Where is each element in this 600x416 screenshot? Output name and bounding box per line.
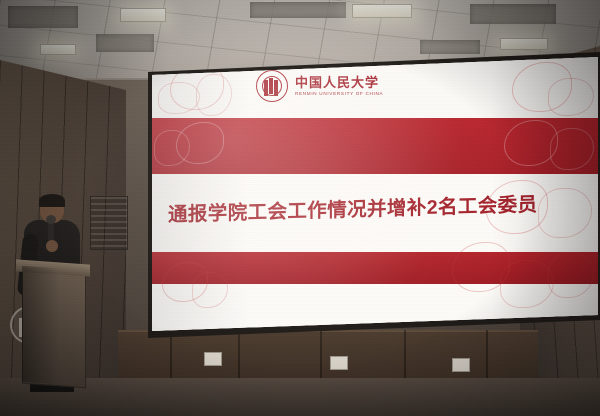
university-logo-text: 中国人民大学 RENMIN UNIVERSITY OF CHINA [295, 76, 383, 97]
university-seal-icon [256, 70, 288, 102]
presentation-slide: 中国人民大学 RENMIN UNIVERSITY OF CHINA 通报学院工会… [152, 56, 598, 332]
floor [0, 378, 600, 416]
podium-shading [22, 266, 84, 386]
projection-screen: 中国人民大学 RENMIN UNIVERSITY OF CHINA 通报学院工会… [152, 56, 598, 332]
photo-scene: 中国人民大学 RENMIN UNIVERSITY OF CHINA 通报学院工会… [0, 0, 600, 416]
university-logo: 中国人民大学 RENMIN UNIVERSITY OF CHINA [256, 70, 383, 102]
university-name-chinese: 中国人民大学 [295, 76, 383, 89]
speaker-hand [46, 240, 58, 252]
university-name-english: RENMIN UNIVERSITY OF CHINA [295, 92, 383, 97]
wall-outlet [452, 358, 470, 372]
wall-outlet [204, 352, 222, 366]
wall-outlet [330, 356, 348, 370]
air-vent [90, 196, 128, 250]
microphone-head-icon [46, 215, 56, 224]
speaker-hair [39, 194, 65, 207]
